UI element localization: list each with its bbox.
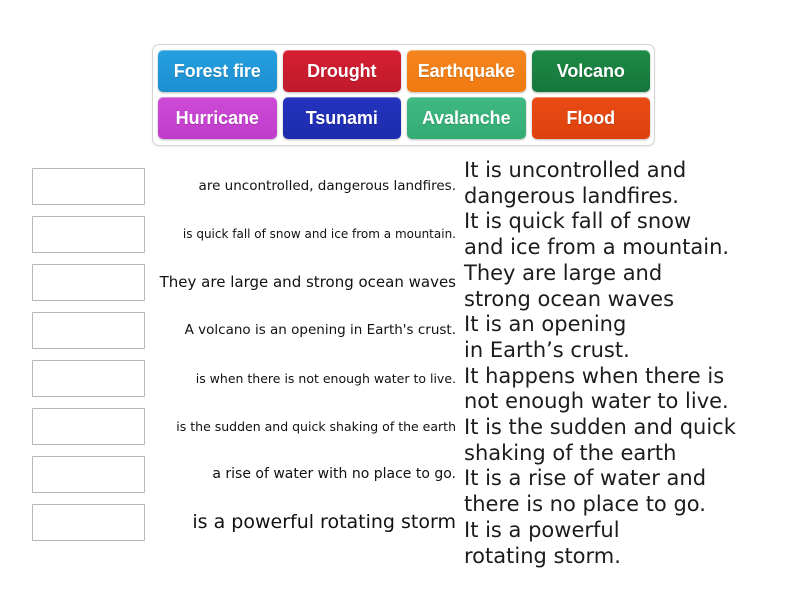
clue-column: are uncontrolled, dangerous landfires. i… — [160, 168, 456, 552]
sentence-line: It is a rise of water and — [464, 466, 794, 492]
sentence-line: It is the sudden and quick — [464, 415, 794, 441]
clue-row: They are large and strong ocean waves — [160, 264, 456, 301]
clue-text: A volcano is an opening in Earth's crust… — [185, 323, 456, 338]
word-tile-panel: Forest fire Drought Earthquake Volcano H… — [152, 44, 655, 146]
sentence-block: It is uncontrolled and dangerous landfir… — [464, 158, 794, 569]
sentence-line: in Earth’s crust. — [464, 338, 794, 364]
answer-box-3[interactable] — [32, 264, 145, 301]
answer-box-7[interactable] — [32, 456, 145, 493]
clue-row: is quick fall of snow and ice from a mou… — [160, 216, 456, 253]
clue-row: is a powerful rotating storm — [160, 504, 456, 541]
clue-row: are uncontrolled, dangerous landfires. — [160, 168, 456, 205]
clue-row: is when there is not enough water to liv… — [160, 360, 456, 397]
clue-text: is a powerful rotating storm — [192, 512, 456, 533]
clue-row: a rise of water with no place to go. — [160, 456, 456, 493]
tile-row-2: Hurricane Tsunami Avalanche Flood — [158, 97, 650, 139]
word-tile-drought[interactable]: Drought — [283, 50, 402, 92]
clue-text: is the sudden and quick shaking of the e… — [176, 420, 456, 434]
word-tile-volcano[interactable]: Volcano — [532, 50, 651, 92]
word-tile-earthquake[interactable]: Earthquake — [407, 50, 526, 92]
sentence-line: not enough water to live. — [464, 389, 794, 415]
word-tile-label: Earthquake — [418, 61, 515, 82]
answer-box-6[interactable] — [32, 408, 145, 445]
sentence-line: strong ocean waves — [464, 287, 794, 313]
word-tile-label: Avalanche — [422, 108, 510, 129]
answer-box-column — [32, 168, 145, 552]
word-tile-label: Flood — [567, 108, 615, 129]
sentence-line: They are large and — [464, 261, 794, 287]
sentence-line: It is uncontrolled and — [464, 158, 794, 184]
word-tile-label: Drought — [307, 61, 376, 82]
answer-box-2[interactable] — [32, 216, 145, 253]
word-tile-label: Hurricane — [176, 108, 259, 129]
clue-text: is when there is not enough water to liv… — [196, 372, 456, 386]
clue-text: are uncontrolled, dangerous landfires. — [199, 179, 456, 194]
sentence-line: It happens when there is — [464, 364, 794, 390]
word-tile-label: Volcano — [557, 61, 625, 82]
clue-row: A volcano is an opening in Earth's crust… — [160, 312, 456, 349]
word-tile-flood[interactable]: Flood — [532, 97, 651, 139]
clue-text: a rise of water with no place to go. — [212, 467, 456, 482]
answer-box-8[interactable] — [32, 504, 145, 541]
sentence-line: there is no place to go. — [464, 492, 794, 518]
word-tile-hurricane[interactable]: Hurricane — [158, 97, 277, 139]
sentence-line: and ice from a mountain. — [464, 235, 794, 261]
clue-text: They are large and strong ocean waves — [160, 274, 456, 291]
answer-box-1[interactable] — [32, 168, 145, 205]
sentence-line: It is an opening — [464, 312, 794, 338]
sentence-line: shaking of the earth — [464, 441, 794, 467]
answer-box-4[interactable] — [32, 312, 145, 349]
tile-row-1: Forest fire Drought Earthquake Volcano — [158, 50, 650, 92]
sentence-line: It is a powerful — [464, 518, 794, 544]
clue-row: is the sudden and quick shaking of the e… — [160, 408, 456, 445]
sentence-line: rotating storm. — [464, 544, 794, 570]
clue-text: is quick fall of snow and ice from a mou… — [183, 228, 456, 241]
word-tile-tsunami[interactable]: Tsunami — [283, 97, 402, 139]
answer-box-5[interactable] — [32, 360, 145, 397]
sentence-line: dangerous landfires. — [464, 184, 794, 210]
word-tile-avalanche[interactable]: Avalanche — [407, 97, 526, 139]
word-tile-label: Tsunami — [306, 108, 378, 129]
sentence-line: It is quick fall of snow — [464, 209, 794, 235]
word-tile-forest-fire[interactable]: Forest fire — [158, 50, 277, 92]
word-tile-label: Forest fire — [174, 61, 261, 82]
